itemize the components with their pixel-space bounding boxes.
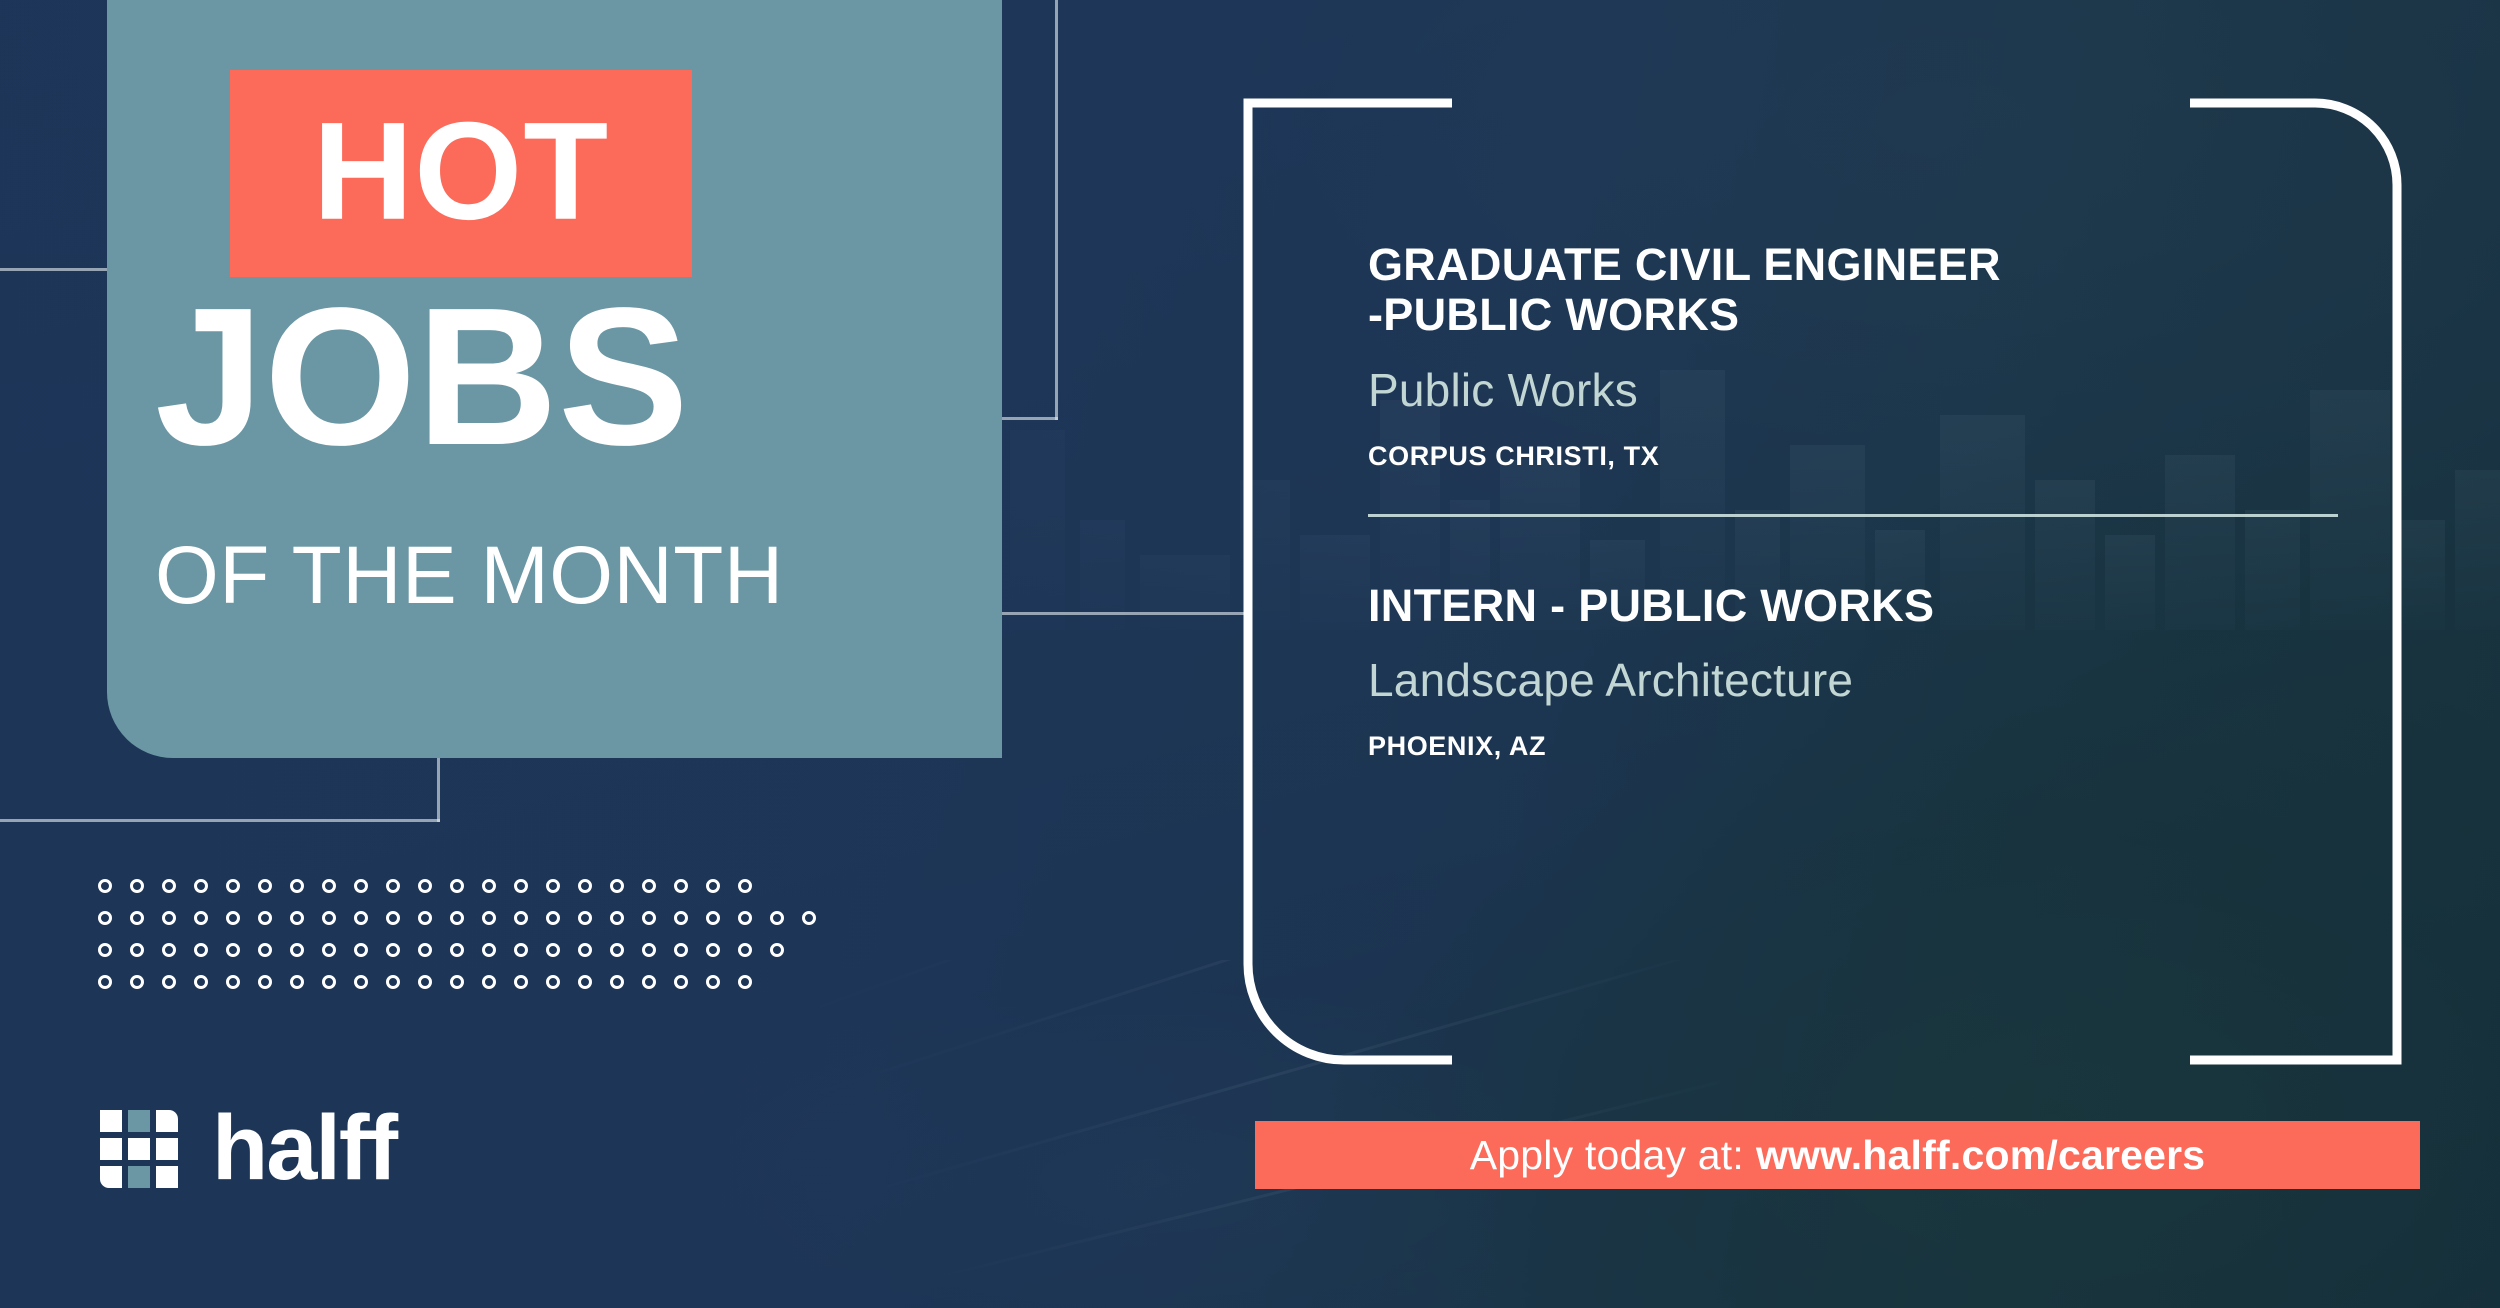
logo-grid-cell bbox=[156, 1110, 178, 1132]
dot-ring-icon bbox=[482, 975, 496, 989]
hot-badge: HOT bbox=[230, 70, 692, 277]
dot-ring-icon bbox=[162, 975, 176, 989]
dot-ring-icon bbox=[706, 975, 720, 989]
dot-ring-icon bbox=[578, 911, 592, 925]
job-location: PHOENIX, AZ bbox=[1368, 733, 2358, 760]
logo-grid-cell bbox=[156, 1166, 178, 1188]
hairline-top-left-horizontal bbox=[0, 268, 112, 271]
dot-ring-icon bbox=[610, 975, 624, 989]
dot-pattern-row bbox=[98, 909, 834, 941]
dot-ring-icon bbox=[674, 943, 688, 957]
dot-ring-icon bbox=[226, 943, 240, 957]
dot-ring-icon bbox=[674, 879, 688, 893]
dot-pattern-row bbox=[98, 877, 834, 909]
dot-ring-icon bbox=[418, 879, 432, 893]
dot-pattern-decoration bbox=[98, 877, 834, 1005]
dot-ring-icon bbox=[98, 975, 112, 989]
job-listings: GRADUATE CIVIL ENGINEER -PUBLIC WORKS Pu… bbox=[1368, 240, 2358, 760]
dot-ring-icon bbox=[354, 911, 368, 925]
dot-ring-icon bbox=[322, 879, 336, 893]
dot-ring-icon bbox=[290, 911, 304, 925]
dot-ring-icon bbox=[130, 911, 144, 925]
hairline-upper-horizontal bbox=[1002, 417, 1058, 420]
dot-ring-icon bbox=[258, 879, 272, 893]
job-title: INTERN - PUBLIC WORKS bbox=[1368, 581, 2358, 631]
job-title-line-1: GRADUATE CIVIL ENGINEER bbox=[1368, 240, 2358, 290]
dot-ring-icon bbox=[290, 975, 304, 989]
dot-ring-icon bbox=[130, 943, 144, 957]
job-listing-item[interactable]: GRADUATE CIVIL ENGINEER -PUBLIC WORKS Pu… bbox=[1368, 240, 2358, 470]
dot-ring-icon bbox=[130, 975, 144, 989]
dot-ring-icon bbox=[354, 879, 368, 893]
page-subtitle: OF THE MONTH bbox=[155, 535, 784, 617]
dot-ring-icon bbox=[642, 975, 656, 989]
dot-ring-icon bbox=[514, 911, 528, 925]
dot-ring-icon bbox=[482, 879, 496, 893]
dot-ring-icon bbox=[162, 943, 176, 957]
logo-grid-cell bbox=[100, 1166, 122, 1188]
brand-logo: halff bbox=[100, 1110, 396, 1188]
dot-ring-icon bbox=[642, 911, 656, 925]
dot-ring-icon bbox=[610, 911, 624, 925]
job-title-line-1: INTERN - PUBLIC WORKS bbox=[1368, 581, 2358, 631]
dot-ring-icon bbox=[386, 943, 400, 957]
dot-ring-icon bbox=[546, 975, 560, 989]
dot-ring-icon bbox=[386, 911, 400, 925]
dot-ring-icon bbox=[706, 911, 720, 925]
dot-ring-icon bbox=[226, 975, 240, 989]
dot-ring-icon bbox=[578, 975, 592, 989]
dot-ring-icon bbox=[194, 879, 208, 893]
dot-ring-icon bbox=[322, 975, 336, 989]
dot-ring-icon bbox=[162, 911, 176, 925]
dot-ring-icon bbox=[98, 943, 112, 957]
logo-grid-cell bbox=[128, 1166, 150, 1188]
dot-ring-icon bbox=[162, 879, 176, 893]
dot-ring-icon bbox=[642, 943, 656, 957]
job-title: GRADUATE CIVIL ENGINEER -PUBLIC WORKS bbox=[1368, 240, 2358, 341]
dot-ring-icon bbox=[354, 975, 368, 989]
hot-jobs-poster: HOT JOBS OF THE MONTH halff GRADUATE CIV… bbox=[0, 0, 2500, 1308]
dot-ring-icon bbox=[130, 879, 144, 893]
dot-ring-icon bbox=[802, 911, 816, 925]
apply-cta-url[interactable]: www.halff.com/careers bbox=[1756, 1132, 2205, 1179]
dot-ring-icon bbox=[226, 911, 240, 925]
dot-ring-icon bbox=[674, 975, 688, 989]
dot-ring-icon bbox=[290, 879, 304, 893]
brand-wordmark: halff bbox=[212, 1112, 396, 1186]
dot-ring-icon bbox=[738, 975, 752, 989]
dot-ring-icon bbox=[386, 879, 400, 893]
dot-ring-icon bbox=[322, 911, 336, 925]
dot-ring-icon bbox=[514, 975, 528, 989]
job-department: Landscape Architecture bbox=[1368, 657, 2358, 703]
dot-ring-icon bbox=[706, 943, 720, 957]
dot-ring-icon bbox=[610, 879, 624, 893]
dot-ring-icon bbox=[546, 911, 560, 925]
dot-ring-icon bbox=[258, 975, 272, 989]
dot-ring-icon bbox=[514, 879, 528, 893]
dot-ring-icon bbox=[770, 943, 784, 957]
apply-cta-prefix: Apply today at: bbox=[1470, 1132, 1744, 1179]
dot-ring-icon bbox=[770, 911, 784, 925]
job-location: CORPUS CHRISTI, TX bbox=[1368, 443, 2358, 470]
logo-grid-cell bbox=[128, 1110, 150, 1132]
dot-ring-icon bbox=[194, 911, 208, 925]
apply-cta-banner[interactable]: Apply today at: www.halff.com/careers bbox=[1255, 1121, 2420, 1189]
dot-ring-icon bbox=[194, 943, 208, 957]
dot-ring-icon bbox=[482, 943, 496, 957]
dot-ring-icon bbox=[610, 943, 624, 957]
dot-ring-icon bbox=[98, 879, 112, 893]
dot-ring-icon bbox=[578, 943, 592, 957]
dot-pattern-row bbox=[98, 973, 834, 1005]
dot-ring-icon bbox=[322, 943, 336, 957]
dot-ring-icon bbox=[706, 879, 720, 893]
hot-badge-label: HOT bbox=[230, 101, 692, 240]
dot-ring-icon bbox=[258, 943, 272, 957]
dot-ring-icon bbox=[226, 879, 240, 893]
dot-ring-icon bbox=[418, 911, 432, 925]
hairline-bottom-left-horizontal bbox=[0, 819, 440, 822]
logo-grid-cell bbox=[100, 1110, 122, 1132]
hairline-bottom-left-vertical bbox=[437, 756, 440, 822]
dot-ring-icon bbox=[546, 879, 560, 893]
dot-ring-icon bbox=[642, 879, 656, 893]
dot-ring-icon bbox=[354, 943, 368, 957]
logo-grid-cell bbox=[100, 1138, 122, 1160]
hero-panel: HOT JOBS OF THE MONTH bbox=[107, 0, 1002, 758]
dot-ring-icon bbox=[98, 911, 112, 925]
dot-ring-icon bbox=[450, 943, 464, 957]
job-department: Public Works bbox=[1368, 367, 2358, 413]
dot-ring-icon bbox=[418, 943, 432, 957]
logo-grid-cell bbox=[128, 1138, 150, 1160]
dot-ring-icon bbox=[674, 911, 688, 925]
dot-ring-icon bbox=[290, 943, 304, 957]
dot-ring-icon bbox=[418, 975, 432, 989]
dot-ring-icon bbox=[578, 879, 592, 893]
dot-ring-icon bbox=[450, 911, 464, 925]
dot-ring-icon bbox=[194, 975, 208, 989]
dot-ring-icon bbox=[738, 943, 752, 957]
dot-ring-icon bbox=[258, 911, 272, 925]
dot-ring-icon bbox=[738, 911, 752, 925]
dot-ring-icon bbox=[546, 943, 560, 957]
dot-pattern-row bbox=[98, 941, 834, 973]
dot-ring-icon bbox=[482, 911, 496, 925]
hairline-upper-vertical bbox=[1055, 0, 1058, 420]
page-title: JOBS bbox=[155, 285, 689, 469]
job-title-line-2: -PUBLIC WORKS bbox=[1368, 290, 2358, 340]
dot-ring-icon bbox=[450, 879, 464, 893]
job-listing-item[interactable]: INTERN - PUBLIC WORKS Landscape Architec… bbox=[1368, 581, 2358, 760]
dot-ring-icon bbox=[450, 975, 464, 989]
dot-ring-icon bbox=[738, 879, 752, 893]
dot-ring-icon bbox=[386, 975, 400, 989]
logo-grid-cell bbox=[156, 1138, 178, 1160]
dot-ring-icon bbox=[514, 943, 528, 957]
halff-grid-logo-icon bbox=[100, 1110, 178, 1188]
job-list-divider bbox=[1368, 514, 2338, 517]
